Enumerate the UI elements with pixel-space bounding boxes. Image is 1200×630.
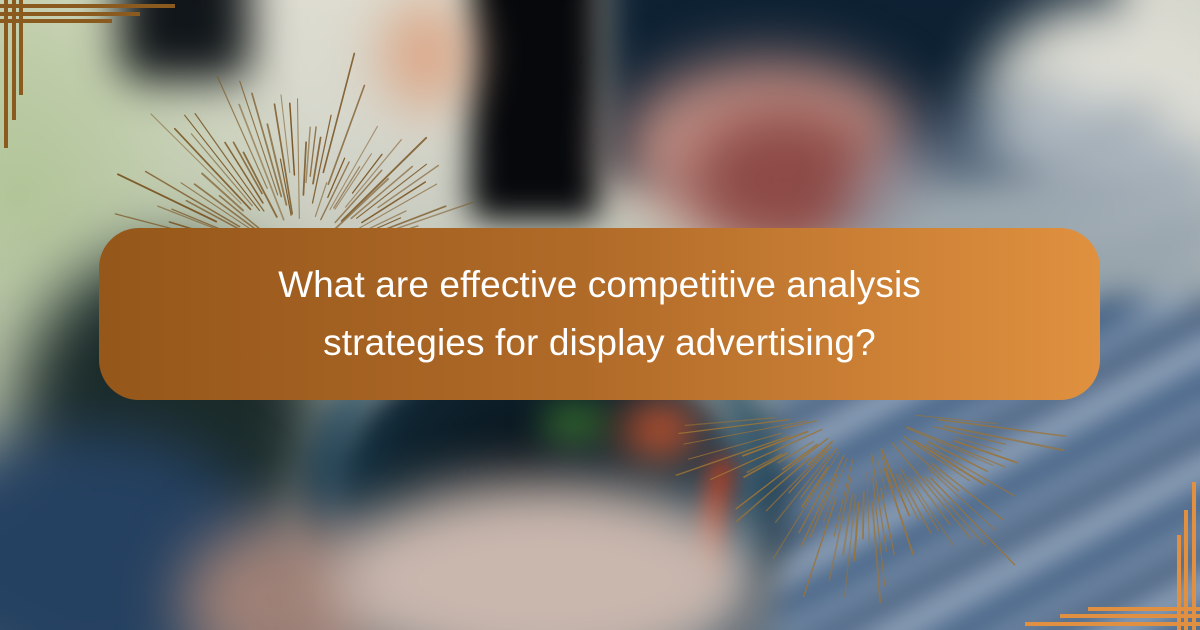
og-image-canvas: What are effective competitive analysis … xyxy=(0,0,1200,630)
lens-barrel-blur xyxy=(470,0,600,220)
question-card: What are effective competitive analysis … xyxy=(99,228,1100,400)
question-title: What are effective competitive analysis … xyxy=(278,256,921,373)
hand-upper-blur xyxy=(380,0,470,110)
lens-barrel-secondary-blur xyxy=(120,0,250,80)
lens-glint-blur xyxy=(540,400,610,445)
red-accent-blur xyxy=(620,400,700,460)
